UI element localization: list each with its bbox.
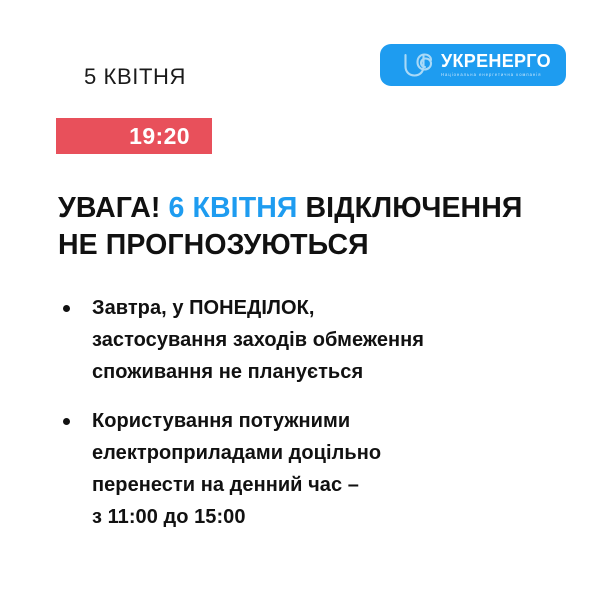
logo-tagline: Національна енергетична компанія (441, 73, 551, 77)
ukrenergo-swirl-icon (403, 53, 434, 78)
bullet-line: Користування потужними (92, 405, 558, 437)
headline-accent-date: 6 КВІТНЯ (169, 192, 298, 224)
bullet-line: застосування заходів обмеження (92, 324, 558, 356)
time-badge: 19:20 (56, 118, 212, 154)
headline-part2: ВІДКЛЮЧЕННЯ (297, 192, 522, 224)
bullet-dot-icon (63, 305, 70, 312)
bullet-list: Завтра, у ПОНЕДІЛОК, застосування заході… (58, 292, 558, 533)
bullet-line: з 11:00 до 15:00 (92, 501, 558, 533)
headline-line2: НЕ ПРОГНОЗУЮТЬСЯ (58, 229, 369, 261)
ukrenergo-logo: УКРЕНЕРГО Національна енергетична компан… (380, 44, 566, 86)
logo-text-group: УКРЕНЕРГО Національна енергетична компан… (441, 52, 551, 78)
bullet-line: електроприладами доцільно (92, 437, 558, 469)
bullet-dot-icon (63, 418, 70, 425)
bullet-line: перенести на денний час – (92, 469, 558, 501)
list-item: Завтра, у ПОНЕДІЛОК, застосування заході… (58, 292, 558, 388)
logo-wordmark: УКРЕНЕРГО (441, 52, 551, 70)
headline: УВАГА! 6 КВІТНЯ ВІДКЛЮЧЕННЯ НЕ ПРОГНОЗУЮ… (58, 190, 588, 264)
headline-part1: УВАГА! (58, 192, 169, 224)
header: 5 КВІТНЯ УКРЕНЕРГО Національна енергетич… (0, 0, 610, 108)
time-badge-text: 19:20 (129, 125, 190, 148)
bullet-line: Завтра, у ПОНЕДІЛОК, (92, 292, 558, 324)
bullet-line: споживання не планується (92, 356, 558, 388)
announcement-card: 5 КВІТНЯ УКРЕНЕРГО Національна енергетич… (0, 0, 610, 610)
date-label: 5 КВІТНЯ (84, 64, 186, 90)
list-item: Користування потужними електроприладами … (58, 405, 558, 533)
